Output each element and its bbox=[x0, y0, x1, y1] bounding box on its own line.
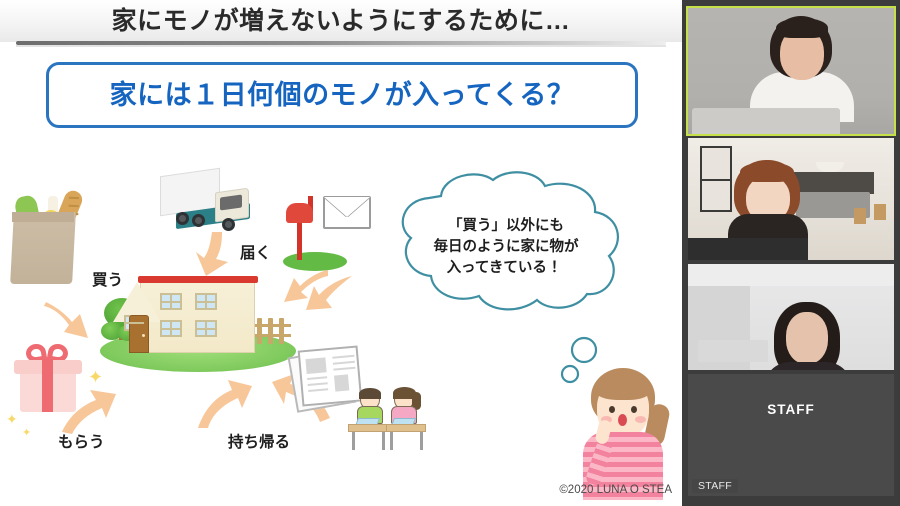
thinking-girl-illustration bbox=[575, 368, 671, 500]
fence-icon bbox=[255, 318, 291, 344]
video-tile-staff-audio-only[interactable]: STAFF STAFF bbox=[688, 374, 894, 496]
sparkle-icon: ✦ bbox=[88, 368, 103, 386]
video-tile-participant-2[interactable] bbox=[688, 138, 894, 260]
arrow-right-to-house bbox=[298, 276, 352, 320]
video-feed-participant-1 bbox=[688, 8, 894, 134]
shared-slide[interactable]: 家にモノが増えないようにするために… 家には１日何個のモノが入ってくる？ 買う bbox=[0, 0, 682, 506]
video-feed-participant-3 bbox=[688, 264, 894, 370]
staff-center-label: STAFF bbox=[688, 402, 894, 417]
label-deliver: 届く bbox=[240, 241, 271, 263]
arrow-from-truck bbox=[196, 232, 236, 278]
slide-title: 家にモノが増えないようにするために… bbox=[0, 3, 682, 39]
thought-line-3: 入ってきている ！ bbox=[400, 258, 612, 279]
copyright-text: ©2020 LUNA O STEA bbox=[0, 484, 672, 496]
sparkle-icon: ✦ bbox=[22, 428, 31, 439]
label-receive: もらう bbox=[58, 430, 105, 452]
thought-line-2: 毎日のように家に物が bbox=[400, 237, 612, 258]
participant-video-rail: STAFF STAFF bbox=[682, 0, 900, 506]
sparkle-icon: ✦ bbox=[6, 412, 18, 426]
video-feed-participant-2 bbox=[688, 138, 894, 260]
meeting-window: 家にモノが増えないようにするために… 家には１日何個のモノが入ってくる？ 買う bbox=[0, 0, 900, 506]
thought-bubble-text: 「買う」以外にも 毎日のように家に物が 入ってきている ！ bbox=[400, 216, 612, 279]
video-tile-participant-3[interactable] bbox=[688, 264, 894, 370]
label-bring-home: 持ち帰る bbox=[228, 430, 290, 452]
thought-line-1: 「買う」以外にも bbox=[400, 216, 612, 237]
staff-name-badge: STAFF bbox=[692, 479, 738, 493]
question-text: 家には１日何個のモノが入ってくる？ bbox=[46, 62, 638, 128]
video-tile-participant-1[interactable] bbox=[688, 8, 894, 134]
arrow-from-bring-home bbox=[198, 380, 252, 428]
arrow-from-bag bbox=[44, 300, 90, 344]
title-divider-secondary bbox=[16, 45, 666, 47]
